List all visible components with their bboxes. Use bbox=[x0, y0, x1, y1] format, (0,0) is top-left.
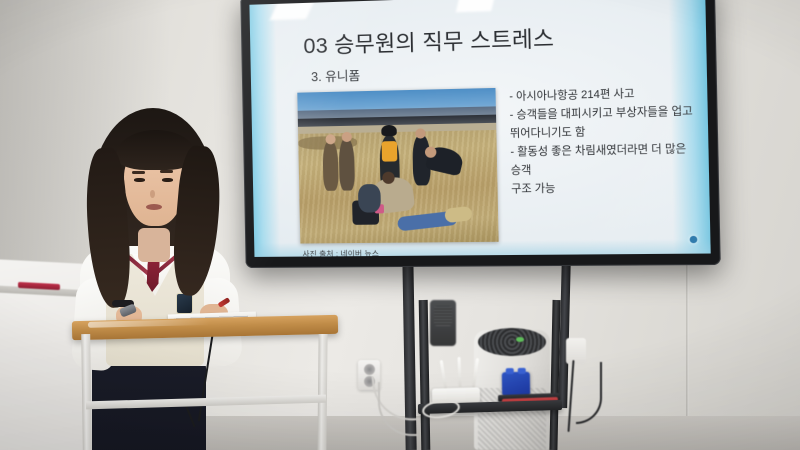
presenter-neck bbox=[138, 228, 170, 262]
slide-accent-left bbox=[249, 4, 280, 257]
photo-source-caption: 사진 출처 : 네이버 뉴스 bbox=[302, 248, 379, 257]
air-purifier-grill bbox=[478, 328, 546, 356]
podium-leg-left bbox=[81, 334, 92, 450]
slide-indicator-dot bbox=[690, 236, 698, 243]
slide-bullet: 뛰어다니기도 함 bbox=[510, 122, 698, 143]
slide-bullet: - 활동성 좋은 차림새였더라면 더 많은 승객 bbox=[510, 141, 698, 180]
photo-vest-hiviz bbox=[382, 141, 398, 162]
screen-glare-reflection bbox=[270, 0, 316, 20]
wall-display: 03 승무원의 직무 스트레스 3. 유니폼 bbox=[240, 0, 720, 268]
slide-bullet: 구조 가능 bbox=[511, 178, 699, 198]
photo-figure-head bbox=[382, 172, 395, 184]
presenter-eye bbox=[134, 178, 145, 182]
blue-box bbox=[502, 372, 530, 396]
tv-screen: 03 승무원의 직무 스트레스 3. 유니폼 bbox=[249, 0, 710, 257]
slide-photo bbox=[297, 88, 498, 244]
presenter-mouth bbox=[146, 204, 162, 210]
outlet-socket bbox=[364, 364, 375, 375]
speaker-unit bbox=[430, 300, 456, 346]
podium-leg-right bbox=[317, 334, 327, 450]
photo-figure-helmet bbox=[381, 125, 397, 136]
slide-title: 03 승무원의 직무 스트레스 bbox=[303, 22, 554, 61]
wall-plug bbox=[566, 338, 586, 364]
air-purifier-led bbox=[516, 337, 524, 342]
presentation-slide: 03 승무원의 직무 스트레스 3. 유니폼 bbox=[249, 0, 710, 257]
photo-figure-responder bbox=[322, 140, 338, 191]
screen-glare-reflection bbox=[456, 0, 496, 12]
photo-figure-responder bbox=[339, 138, 355, 191]
presenter-nose bbox=[150, 190, 155, 198]
presenter-eyebrow bbox=[132, 171, 145, 174]
slide-bullet: - 승객들을 대피시키고 부상자들을 업고 bbox=[509, 103, 697, 125]
screenshot-root: 03 승무원의 직무 스트레스 3. 유니폼 bbox=[0, 0, 800, 450]
presenter-eyebrow bbox=[160, 170, 173, 173]
presenter-eye bbox=[162, 178, 173, 182]
photo-figure-seated bbox=[358, 184, 381, 213]
slide-subtitle: 3. 유니폼 bbox=[311, 65, 360, 85]
slide-bullets: - 아시아나항공 214편 사고 - 승객들을 대피시키고 부상자들을 업고 뛰… bbox=[509, 84, 698, 199]
school-crest-patch bbox=[177, 294, 192, 313]
